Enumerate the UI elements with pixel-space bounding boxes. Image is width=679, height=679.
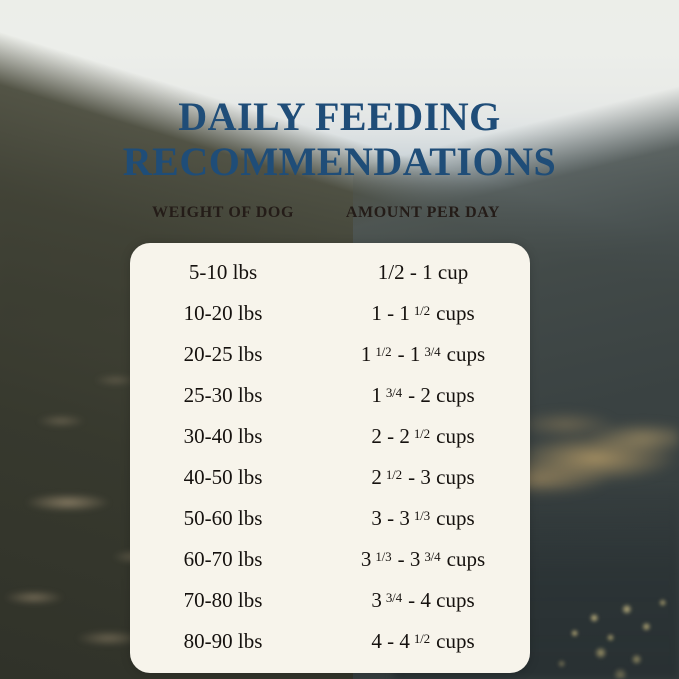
table-row: 30-40 lbs2 - 21/2 cups (130, 416, 530, 457)
amount-lower-fraction: 3/4 (386, 590, 402, 605)
table-row: 60-70 lbs31/3 - 33/4 cups (130, 539, 530, 580)
poster-root: DAILY FEEDING RECOMMENDATIONS WEIGHT OF … (0, 0, 679, 679)
amount-range-dash: - (398, 547, 405, 571)
table-row: 20-25 lbs11/2 - 13/4 cups (130, 334, 530, 375)
table-row: 80-90 lbs4 - 41/2 cups (130, 621, 530, 662)
cell-weight-of-dog: 70-80 lbs (130, 588, 316, 613)
amount-unit: cups (436, 588, 475, 612)
background-shrub (516, 570, 679, 679)
amount-range-dash: - (408, 588, 415, 612)
amount-upper-whole: 2 (399, 424, 410, 448)
amount-lower-whole: 3 (371, 588, 382, 612)
amount-upper-fraction: 1/2 (414, 426, 430, 441)
amount-lower-whole: 1 (361, 342, 372, 366)
cell-amount-per-day: 31/3 - 33/4 cups (316, 547, 530, 572)
amount-upper-fraction: 1/3 (414, 508, 430, 523)
amount-upper-whole: 3 (410, 547, 421, 571)
cell-amount-per-day: 33/4 - 4 cups (316, 588, 530, 613)
cell-amount-per-day: 1/2 - 1 cup (316, 260, 530, 285)
table-row: 10-20 lbs1 - 11/2 cups (130, 293, 530, 334)
amount-unit: cups (436, 301, 475, 325)
page-title-line-2: RECOMMENDATIONS (0, 140, 679, 185)
cell-weight-of-dog: 10-20 lbs (130, 301, 316, 326)
table-row: 40-50 lbs21/2 - 3 cups (130, 457, 530, 498)
column-header-weight-of-dog: WEIGHT OF DOG (130, 204, 316, 222)
cell-amount-per-day: 4 - 41/2 cups (316, 629, 530, 654)
amount-lower-whole: 2 (371, 424, 382, 448)
cell-amount-per-day: 11/2 - 13/4 cups (316, 342, 530, 367)
amount-range-dash: - (387, 506, 394, 530)
cell-amount-per-day: 2 - 21/2 cups (316, 424, 530, 449)
amount-upper-whole: 3 (399, 506, 410, 530)
amount-range-dash: - (387, 424, 394, 448)
cell-weight-of-dog: 50-60 lbs (130, 506, 316, 531)
amount-unit: cups (436, 465, 475, 489)
amount-unit: cups (436, 424, 475, 448)
page-title-line-1: DAILY FEEDING (0, 95, 679, 140)
table-row: 70-80 lbs33/4 - 4 cups (130, 580, 530, 621)
amount-lower-fraction: 3/4 (386, 385, 402, 400)
amount-lower-fraction: 1/2 (386, 467, 402, 482)
amount-upper-whole: 1 (422, 260, 433, 284)
feeding-table-body: 5-10 lbs1/2 - 1 cup10-20 lbs1 - 11/2 cup… (130, 252, 530, 662)
amount-range-dash: - (410, 260, 417, 284)
amount-unit: cups (436, 629, 475, 653)
amount-range-dash: - (408, 383, 415, 407)
cell-weight-of-dog: 5-10 lbs (130, 260, 316, 285)
amount-upper-whole: 1 (410, 342, 421, 366)
amount-range-dash: - (387, 301, 394, 325)
table-row: 25-30 lbs13/4 - 2 cups (130, 375, 530, 416)
amount-upper-whole: 1 (399, 301, 410, 325)
amount-lower-whole: 4 (371, 629, 382, 653)
amount-range-dash: - (398, 342, 405, 366)
amount-upper-fraction: 3/4 (424, 549, 440, 564)
cell-weight-of-dog: 25-30 lbs (130, 383, 316, 408)
amount-unit: cups (447, 547, 486, 571)
cell-weight-of-dog: 60-70 lbs (130, 547, 316, 572)
cell-weight-of-dog: 30-40 lbs (130, 424, 316, 449)
amount-unit: cups (447, 342, 486, 366)
cell-amount-per-day: 3 - 31/3 cups (316, 506, 530, 531)
amount-lower-whole: 1 (371, 383, 382, 407)
amount-lower-whole: 3 (371, 506, 382, 530)
amount-unit: cup (438, 260, 468, 284)
amount-unit: cups (436, 383, 475, 407)
amount-upper-whole: 2 (420, 383, 431, 407)
cell-amount-per-day: 1 - 11/2 cups (316, 301, 530, 326)
amount-unit: cups (436, 506, 475, 530)
column-header-amount-per-day: AMOUNT PER DAY (316, 204, 530, 222)
table-column-headers: WEIGHT OF DOG AMOUNT PER DAY (130, 204, 530, 222)
amount-lower-whole: 3 (361, 547, 372, 571)
amount-lower-whole: 2 (371, 465, 382, 489)
amount-range-dash: - (387, 629, 394, 653)
table-row: 50-60 lbs3 - 31/3 cups (130, 498, 530, 539)
amount-upper-whole: 4 (420, 588, 431, 612)
cell-weight-of-dog: 40-50 lbs (130, 465, 316, 490)
amount-range-dash: - (408, 465, 415, 489)
amount-lower-whole: 1 (371, 301, 382, 325)
amount-upper-fraction: 1/2 (414, 631, 430, 646)
cell-weight-of-dog: 20-25 lbs (130, 342, 316, 367)
amount-upper-whole: 3 (420, 465, 431, 489)
cell-weight-of-dog: 80-90 lbs (130, 629, 316, 654)
amount-upper-fraction: 3/4 (424, 344, 440, 359)
page-title: DAILY FEEDING RECOMMENDATIONS (0, 95, 679, 185)
amount-lower-fraction: 1/2 (375, 344, 391, 359)
amount-lower-fraction: 1/3 (375, 549, 391, 564)
cell-amount-per-day: 21/2 - 3 cups (316, 465, 530, 490)
cell-amount-per-day: 13/4 - 2 cups (316, 383, 530, 408)
amount-lower-whole: 1/2 (378, 260, 405, 284)
feeding-table-card: 5-10 lbs1/2 - 1 cup10-20 lbs1 - 11/2 cup… (130, 243, 530, 673)
amount-upper-whole: 4 (399, 629, 410, 653)
table-row: 5-10 lbs1/2 - 1 cup (130, 252, 530, 293)
amount-upper-fraction: 1/2 (414, 303, 430, 318)
